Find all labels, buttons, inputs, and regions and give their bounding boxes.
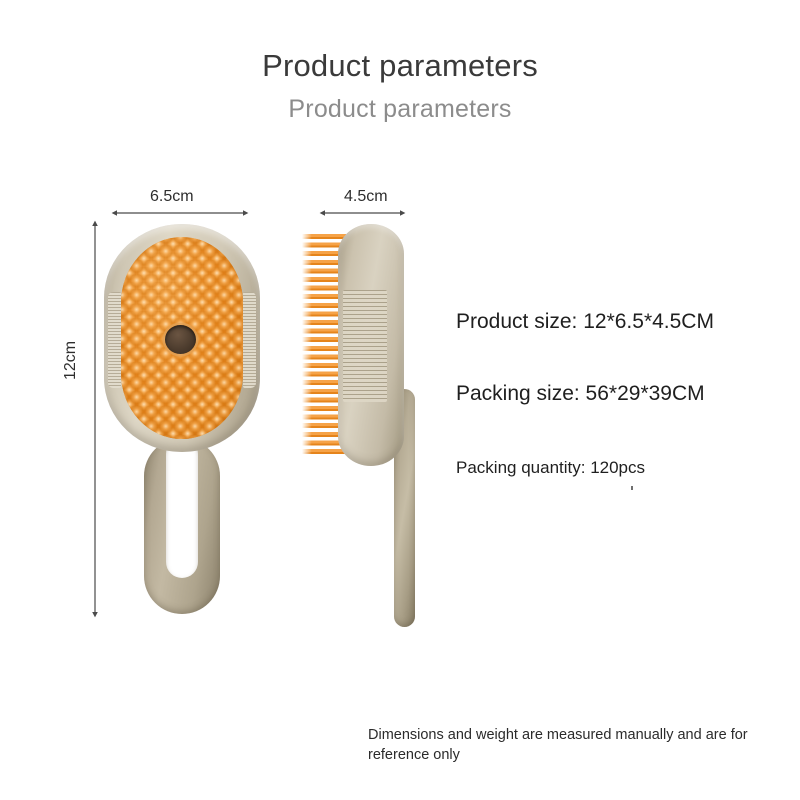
spec-packing-size: Packing size: 56*29*39CM xyxy=(456,382,705,406)
front-handle xyxy=(144,438,220,614)
product-side-view xyxy=(302,224,432,624)
stray-dot-artifact xyxy=(631,486,633,490)
silicone-pad xyxy=(121,237,243,439)
page-title: Product parameters xyxy=(0,48,800,84)
side-rib-texture xyxy=(343,290,387,402)
front-brush-head xyxy=(104,224,260,452)
product-front-view xyxy=(104,224,260,614)
spec-product-size: Product size: 12*6.5*4.5CM xyxy=(456,310,714,334)
width-side-label: 4.5cm xyxy=(344,188,388,206)
center-hole xyxy=(165,325,196,354)
width-front-label: 6.5cm xyxy=(150,188,194,206)
disclaimer-text: Dimensions and weight are measured manua… xyxy=(368,726,772,765)
spec-packing-quantity: Packing quantity: 120pcs xyxy=(456,458,645,478)
grip-texture-left xyxy=(108,292,121,388)
side-brush-body xyxy=(338,224,404,466)
front-handle-opening xyxy=(166,438,198,578)
product-parameters-page: Product parameters Product parameters 6.… xyxy=(0,0,800,800)
page-subtitle: Product parameters xyxy=(0,95,800,124)
height-label: 12cm xyxy=(62,341,80,380)
grip-texture-right xyxy=(243,292,256,388)
